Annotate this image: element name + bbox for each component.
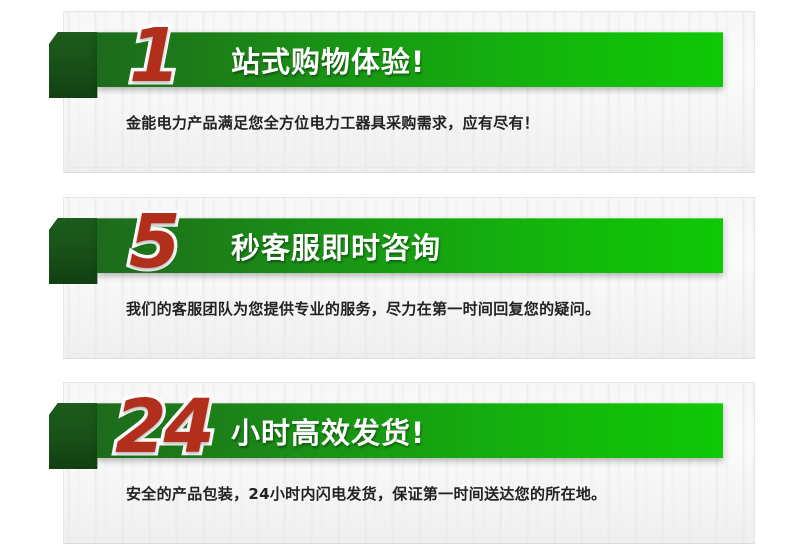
feature-description: 金能电力产品满足您全方位电力工器具采购需求，应有尽有！ (126, 112, 539, 133)
card-bottom-rule (68, 538, 750, 539)
feature-title: 站式购物体验! (231, 39, 425, 81)
feature-number-badge: 1 (129, 19, 180, 93)
feature-block-3: 小时高效发货! 24 安全的产品包装，24小时内闪电发货，保证第一时间送达您的所… (63, 371, 755, 544)
service-features-page: 站式购物体验! 1 金能电力产品满足您全方位电力工器具采购需求，应有尽有！ 秒客… (0, 0, 785, 557)
feature-banner-bar: 站式购物体验! 1 (97, 32, 723, 87)
card-bottom-rule (68, 167, 750, 168)
feature-title: 小时高效发货! (231, 410, 425, 452)
feature-block-1: 站式购物体验! 1 金能电力产品满足您全方位电力工器具采购需求，应有尽有！ (63, 0, 755, 173)
feature-banner-bar: 小时高效发货! 24 (97, 403, 723, 458)
card-bottom-rule (68, 353, 750, 354)
feature-number-badge: 24 (115, 390, 212, 464)
feature-description: 安全的产品包装，24小时内闪电发货，保证第一时间送达您的所在地。 (126, 483, 606, 504)
feature-banner-bar: 秒客服即时咨询 5 (97, 218, 723, 273)
feature-number-badge: 5 (129, 205, 180, 279)
feature-description: 我们的客服团队为您提供专业的服务，尽力在第一时间回复您的疑问。 (126, 298, 600, 319)
feature-title: 秒客服即时咨询 (231, 225, 441, 267)
feature-block-2: 秒客服即时咨询 5 我们的客服团队为您提供专业的服务，尽力在第一时间回复您的疑问… (63, 186, 755, 359)
